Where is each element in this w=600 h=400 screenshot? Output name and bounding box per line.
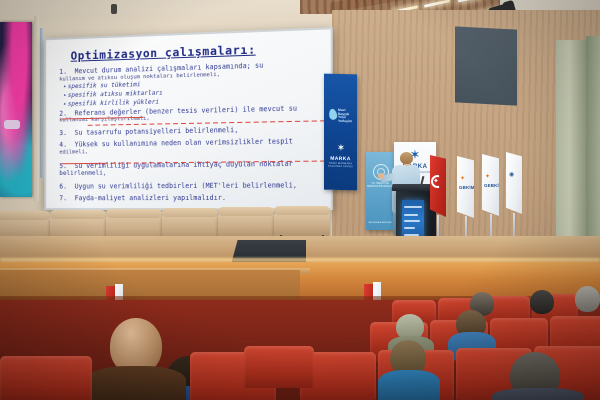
rollup-banner-lightblue: T.C. SANAYİ VE TEKNOLOJİ BAKANLIĞI KALKI… (366, 152, 394, 230)
flag-label: GBKİM (459, 185, 475, 190)
audience-seat (0, 356, 92, 400)
audience-seat (244, 346, 314, 388)
stage-sofa (274, 212, 330, 236)
rollup-banner-blue: Mavi Bayrak Yeşil Yerleşim ✶ MARKA DOĞU … (324, 74, 357, 191)
speaker-hand (378, 173, 384, 179)
slide-item-7: 7. Fayda-maliyet analizleri yapılmalıdır… (59, 194, 322, 203)
audience-shoulders (492, 388, 584, 400)
speaker-hair (400, 152, 413, 164)
flag-emblem-icon: ◉ (509, 172, 514, 178)
banner-logo-text: Mavi Bayrak Yeşil Yerleşim (338, 109, 353, 124)
water-drop-icon (328, 108, 338, 120)
star-icon: ✶ (336, 144, 346, 154)
flag-turkiye: ✦ (430, 155, 446, 217)
auditorium-photo: Optimizasyon çalışmaları: 1. Mevcut duru… (0, 0, 600, 400)
screen-surface: Optimizasyon çalışmaları: 1. Mevcut duru… (46, 29, 330, 208)
wall-panel-dark (455, 26, 517, 105)
wall-art-poster (0, 22, 32, 197)
slide-item-5-cont: belirlenmeli, (59, 168, 322, 179)
flag-gbkim: ✦ GBKİM (457, 156, 474, 218)
slide-item-3: 3. Su tasarrufu potansiyelleri belirlenm… (59, 124, 322, 137)
banner-ministry-line1: T.C. SANAYİ VE TEKNOLOJİ BAKANLIĞI (366, 182, 394, 188)
flag-kocaeli: ◉ (506, 152, 522, 214)
flag-emblem-icon: ✦ (460, 176, 465, 182)
mavi-bayrak-logo: Mavi Bayrak Yeşil Yerleşim (328, 107, 353, 124)
slide-item-6: 6. Uygun su verimliliği tedbirleri (MET'… (59, 181, 322, 191)
banner-ministry-line2: KALKINMA AJANSLARI (366, 222, 394, 224)
presentation-slide: Optimizasyon çalışmaları: 1. Mevcut duru… (46, 29, 330, 208)
stage-sofa (162, 214, 218, 238)
audience-shoulders (378, 370, 440, 400)
flag-gebkim: ✦ GEBKİM (482, 154, 499, 216)
wall-trim (34, 16, 39, 201)
audience-shoulders (86, 366, 186, 400)
audience-head (575, 286, 600, 312)
slide-title: Optimizasyon çalışmaları: (71, 40, 323, 63)
star-icon: ✦ (433, 177, 439, 185)
ceiling-sensor (111, 4, 117, 14)
stage-sofa (218, 213, 274, 237)
projection-screen: Optimizasyon çalışmaları: 1. Mevcut duru… (44, 27, 332, 210)
flag-emblem-icon: ✦ (485, 174, 490, 180)
banner-org-sub: DOĞU MARMARA KALKINMA AJANSI (324, 162, 357, 169)
audience-head (530, 290, 554, 314)
